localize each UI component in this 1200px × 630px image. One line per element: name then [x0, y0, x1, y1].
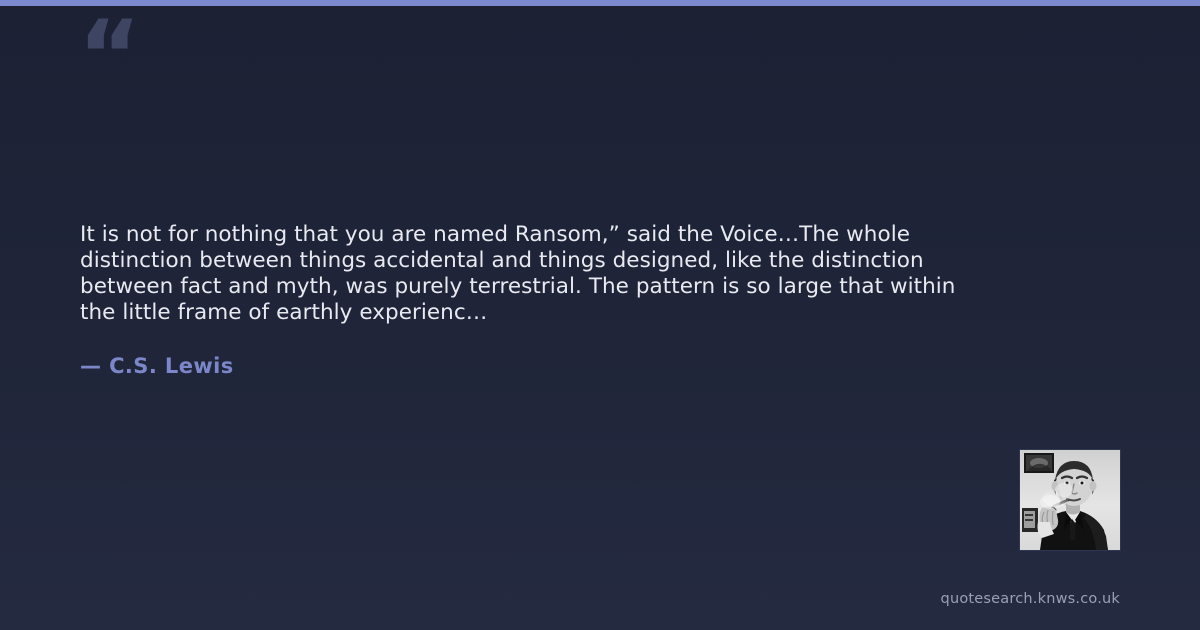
opening-quotation-mark-icon: “ — [78, 8, 139, 104]
top-accent-bar — [0, 0, 1200, 6]
site-url-label: quotesearch.knws.co.uk — [941, 591, 1120, 607]
author-portrait — [1020, 450, 1120, 550]
quote-text: It is not for nothing that you are named… — [80, 222, 980, 326]
author-portrait-image — [1020, 450, 1120, 550]
quote-card: “ It is not for nothing that you are nam… — [0, 0, 1200, 630]
quote-author-attribution: — C.S. Lewis — [80, 354, 234, 378]
